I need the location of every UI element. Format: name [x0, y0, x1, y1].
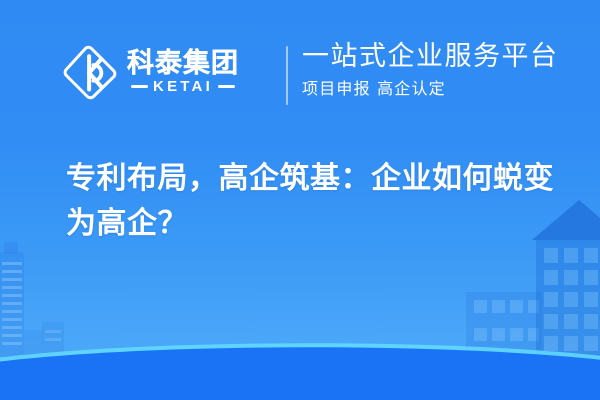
- right-window: [544, 292, 558, 307]
- right-window: [544, 270, 558, 285]
- logo-company-name-cn: 科泰集团: [127, 50, 239, 77]
- left-tower-window-stripe: [2, 270, 22, 273]
- bottom-curve-solid: [0, 336, 600, 400]
- header-tagline: 一站式企业服务平台 项目申报 高企认定: [302, 42, 559, 99]
- left-tower-window-stripe: [2, 310, 22, 313]
- logo-company-name-en: KETAI: [153, 79, 213, 94]
- logo-dash-right: [218, 85, 235, 88]
- right-window: [584, 292, 598, 307]
- right-window: [584, 314, 598, 329]
- page-title: 专利布局，高企筑基：企业如何蜕变为高企？: [66, 156, 566, 246]
- right-window: [564, 292, 578, 307]
- header-divider: [286, 46, 288, 105]
- tagline-sub: 项目申报 高企认定: [302, 75, 559, 99]
- right-window: [564, 248, 578, 263]
- left-tower-window-stripe: [2, 294, 22, 297]
- logo-dash-left: [131, 85, 148, 88]
- mid-window: [492, 300, 505, 313]
- banner-header: 科泰集团 KETAI 一站式企业服务平台 项目申报 高企认定: [0, 0, 600, 150]
- tagline-main: 一站式企业服务平台: [302, 42, 559, 72]
- right-window: [544, 248, 558, 263]
- right-window: [584, 270, 598, 285]
- brand-logo[interactable]: 科泰集团 KETAI: [62, 44, 239, 100]
- mid-window: [474, 300, 487, 313]
- right-window: [544, 314, 558, 329]
- left-tower-window-stripe: [2, 326, 22, 329]
- right-window: [584, 248, 598, 263]
- ketai-kp-monogram-logo-icon: [62, 44, 118, 100]
- left-tower-window-stripe: [2, 318, 22, 321]
- right-window: [564, 314, 578, 329]
- mid-window: [510, 300, 523, 313]
- left-tower-window-stripe: [2, 286, 22, 289]
- left-tower-window-stripe: [2, 278, 22, 281]
- left-tower-window-stripe: [2, 262, 22, 265]
- promo-banner: 科泰集团 KETAI 一站式企业服务平台 项目申报 高企认定 专利布局，高企筑基…: [0, 0, 600, 400]
- right-window: [564, 270, 578, 285]
- left-tower-window-stripe: [2, 302, 22, 305]
